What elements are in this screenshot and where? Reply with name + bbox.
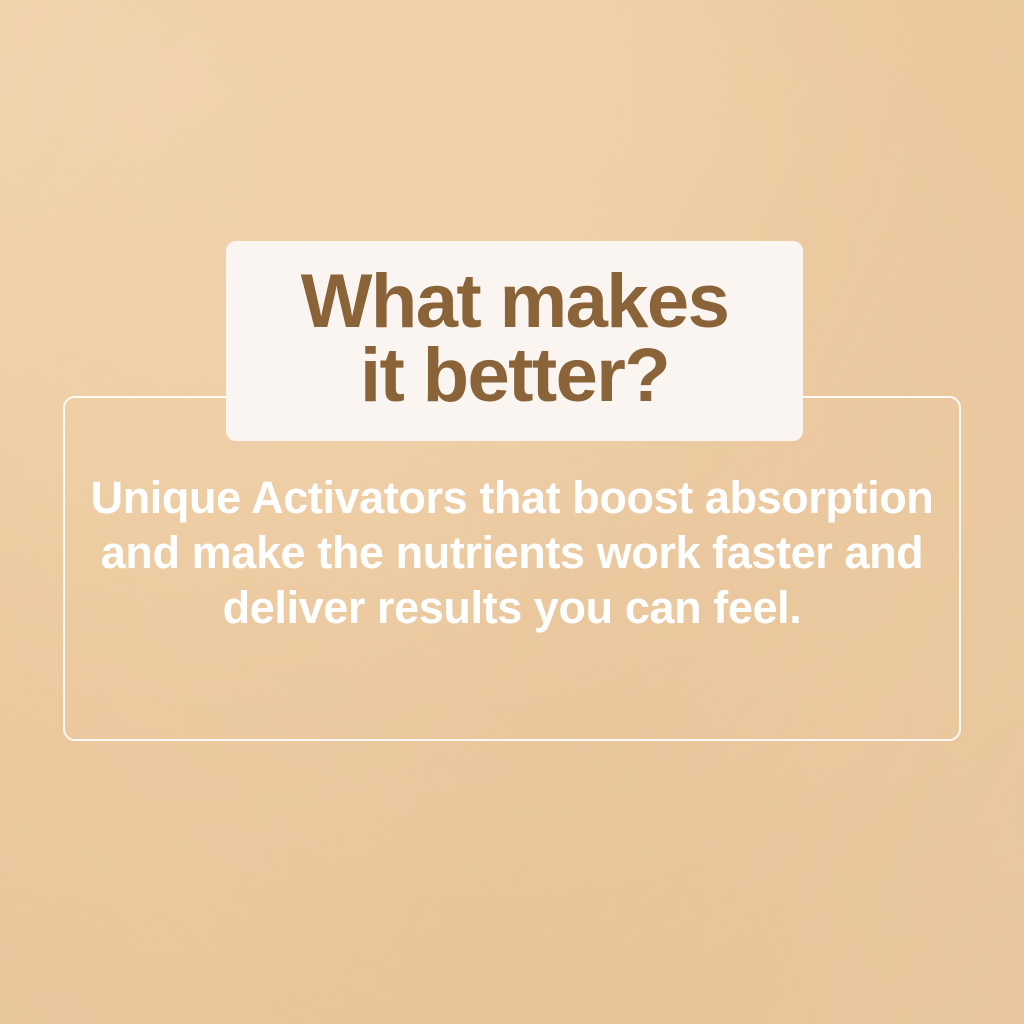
headline-card: What makes it better?: [226, 241, 803, 441]
page-title: What makes it better?: [301, 265, 729, 416]
slide-canvas: What makes it better? Unique Activators …: [0, 0, 1024, 1024]
body-paragraph: Unique Activators that boost absorption …: [63, 470, 961, 635]
